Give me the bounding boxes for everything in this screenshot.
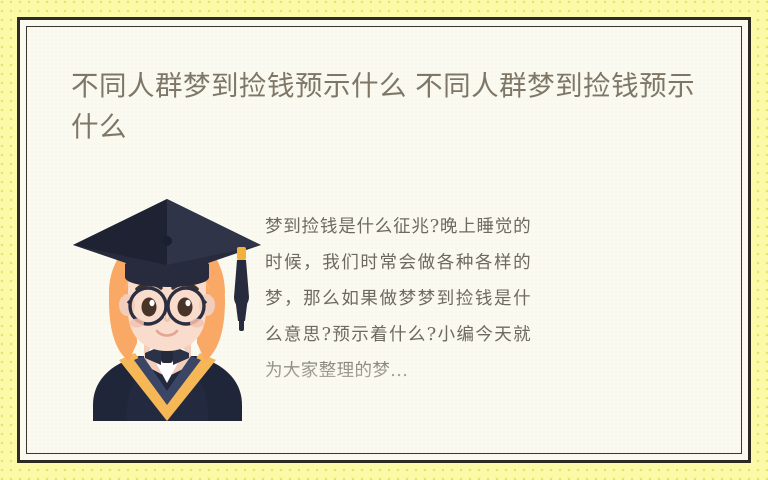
article-snippet: 梦到捡钱是什么征兆?晚上睡觉的时候，我们时常会做各种各样的梦，那么如果做梦梦到捡… — [265, 209, 531, 389]
article-card-frame-inner: 不同人群梦到捡钱预示什么 不同人群梦到捡钱预示什么 — [26, 26, 742, 454]
graduate-avatar-illustration — [65, 193, 270, 421]
page-background: 不同人群梦到捡钱预示什么 不同人群梦到捡钱预示什么 — [0, 0, 768, 480]
article-content-row: 梦到捡钱是什么征兆?晚上睡觉的时候，我们时常会做各种各样的梦，那么如果做梦梦到捡… — [27, 175, 741, 435]
article-card-frame-outer: 不同人群梦到捡钱预示什么 不同人群梦到捡钱预示什么 — [17, 17, 751, 463]
page-title: 不同人群梦到捡钱预示什么 不同人群梦到捡钱预示什么 — [71, 65, 716, 147]
